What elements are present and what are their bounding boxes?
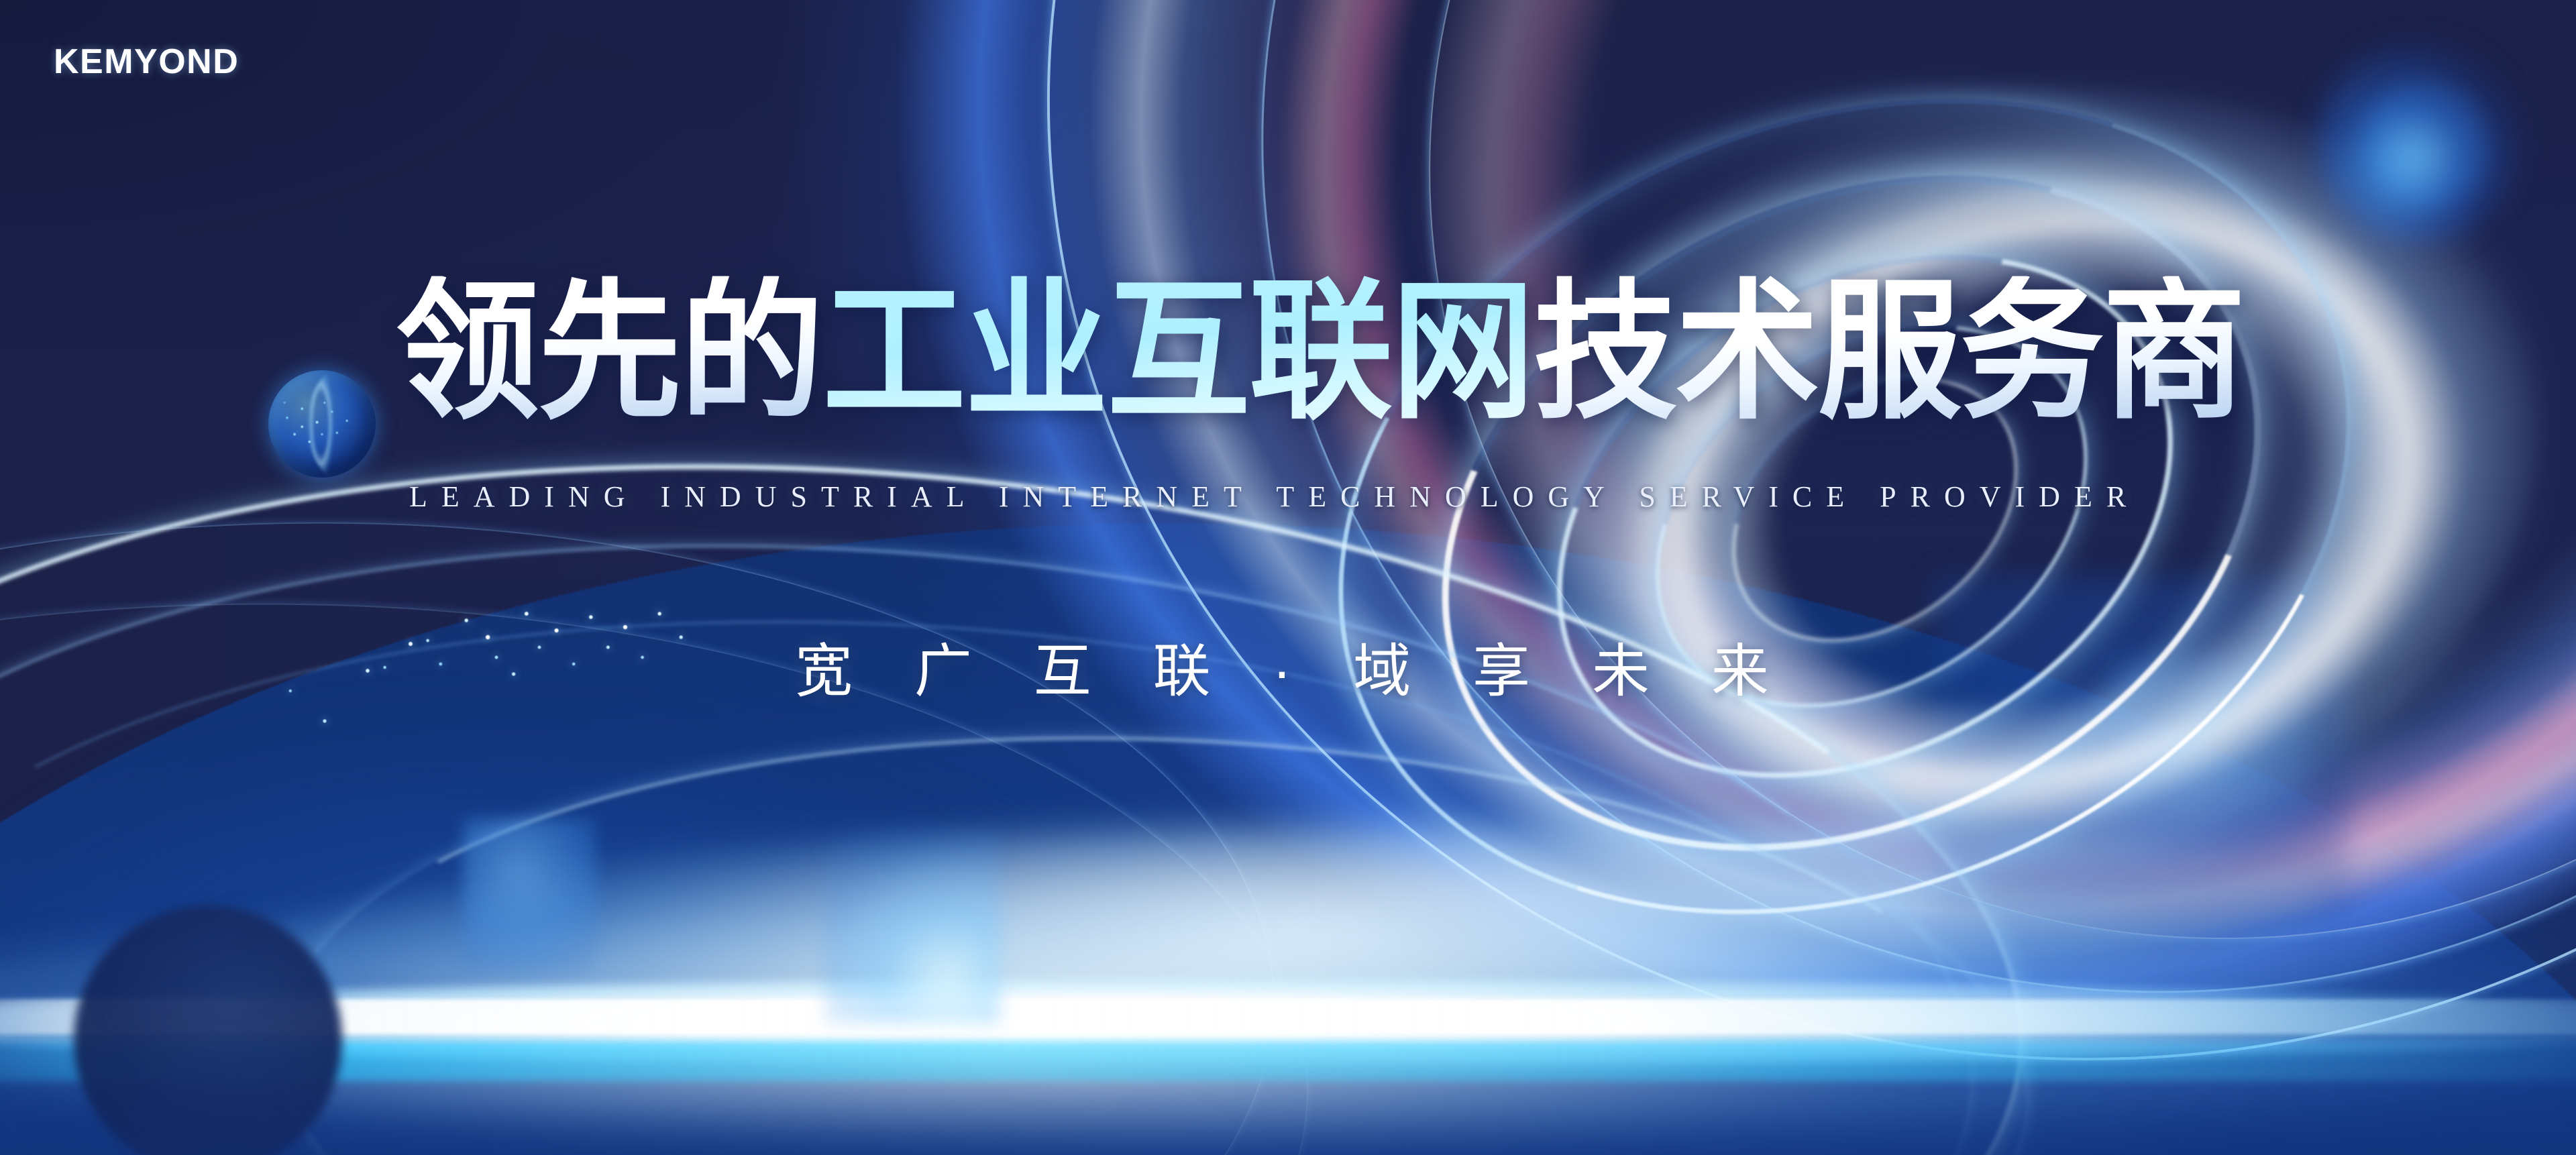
horizontal-light-ribbon xyxy=(0,899,2576,1140)
horizontal-light-ribbon xyxy=(253,797,2337,1053)
sweeping-arc-lines xyxy=(664,0,2576,1155)
dark-sphere-highlight xyxy=(131,892,359,1026)
horizontal-light-ribbon xyxy=(0,1041,2576,1081)
headline-segment-1: 领先的 xyxy=(396,276,822,429)
pink-glow-ribbon xyxy=(1150,0,2576,1066)
sweeping-arc-lines xyxy=(966,0,2576,1148)
page-title: 领先的工业互联网技术服务商 xyxy=(396,280,2245,424)
background-vignette-bottom xyxy=(0,1048,2576,1155)
sweeping-arc-lines xyxy=(0,488,1291,1155)
sweeping-arc-lines xyxy=(908,0,2576,1137)
dark-sphere-shape xyxy=(74,905,342,1155)
background-dome-shade xyxy=(0,677,1201,1155)
horizontal-light-ribbon xyxy=(0,979,2576,1066)
page-subtitle: LEADING INDUSTRIAL INTERNET TECHNOLOGY S… xyxy=(409,480,2140,514)
background-left-wash xyxy=(0,0,979,1155)
light-vortex-swirl xyxy=(1039,0,2576,1155)
headline-segment-3: 技术服务商 xyxy=(1534,276,2245,429)
particle-sphere-icon xyxy=(268,370,376,478)
soft-orb-shape xyxy=(825,828,1000,1023)
background-lower-field xyxy=(0,523,2576,1155)
page-tagline: 宽 广 互 联 · 域 享 未 来 xyxy=(795,624,1792,708)
vortex-ring xyxy=(1463,149,2267,884)
soft-orb-shape xyxy=(463,818,597,973)
particle-dots-field xyxy=(282,570,711,738)
soft-orb-shape xyxy=(1932,577,2348,993)
glow-orb-icon xyxy=(2318,40,2519,241)
vortex-ring xyxy=(1215,0,2474,1060)
light-ribbon-curve xyxy=(0,474,2002,1155)
soft-orb-shape xyxy=(2106,657,2308,859)
glow-orb-icon xyxy=(2361,80,2489,208)
sweeping-arc-lines xyxy=(1203,0,2576,1054)
headline-segment-2: 工业互联网 xyxy=(822,276,1534,429)
hero-banner: KEMYOND 领先的工业互联网技术服务商 LEADING INDUSTRIAL… xyxy=(0,0,2576,1155)
light-vortex-swirl xyxy=(1221,80,2576,1087)
brand-logo: KEMYOND xyxy=(54,42,239,82)
horizontal-light-ribbon xyxy=(0,999,2576,1034)
light-ribbon-curve xyxy=(270,708,2037,1155)
